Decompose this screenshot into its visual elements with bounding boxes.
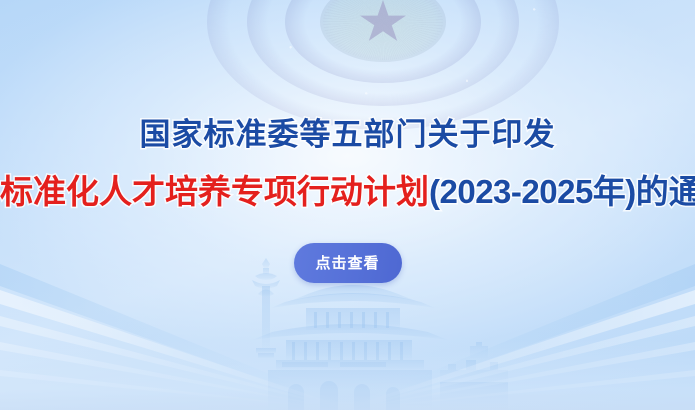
emblem-ring-3 xyxy=(247,0,519,106)
tiananmen-gate-icon xyxy=(252,272,448,410)
page-title-suffix: 的通知 xyxy=(636,173,695,210)
great-wall-icon xyxy=(440,342,508,410)
five-point-star-icon xyxy=(360,0,406,44)
page-title-years: (2023-2025年) xyxy=(429,173,636,210)
page-title-line-1: 国家标准委等五部门关于印发 xyxy=(0,112,695,158)
emblem-rays-icon xyxy=(323,0,443,60)
policy-banner: 国家标准委等五部门关于印发 标准化人才培养专项行动计划(2023-2025年)的… xyxy=(0,0,695,410)
emblem-speckles xyxy=(173,0,593,127)
banner-headline: 国家标准委等五部门关于印发 标准化人才培养专项行动计划(2023-2025年)的… xyxy=(0,112,695,214)
emblem-ring-outer xyxy=(207,0,559,130)
cta-container: 点击查看 xyxy=(0,243,695,283)
page-title-line-2: 标准化人才培养专项行动计划(2023-2025年)的通知 xyxy=(0,170,695,214)
view-detail-button[interactable]: 点击查看 xyxy=(294,243,402,283)
emblem-ring-inner xyxy=(320,0,446,62)
bottom-fade-overlay xyxy=(0,340,695,410)
emblem-ring-2 xyxy=(285,0,481,83)
page-title-plan-name: 标准化人才培养专项行动计划 xyxy=(0,173,429,210)
